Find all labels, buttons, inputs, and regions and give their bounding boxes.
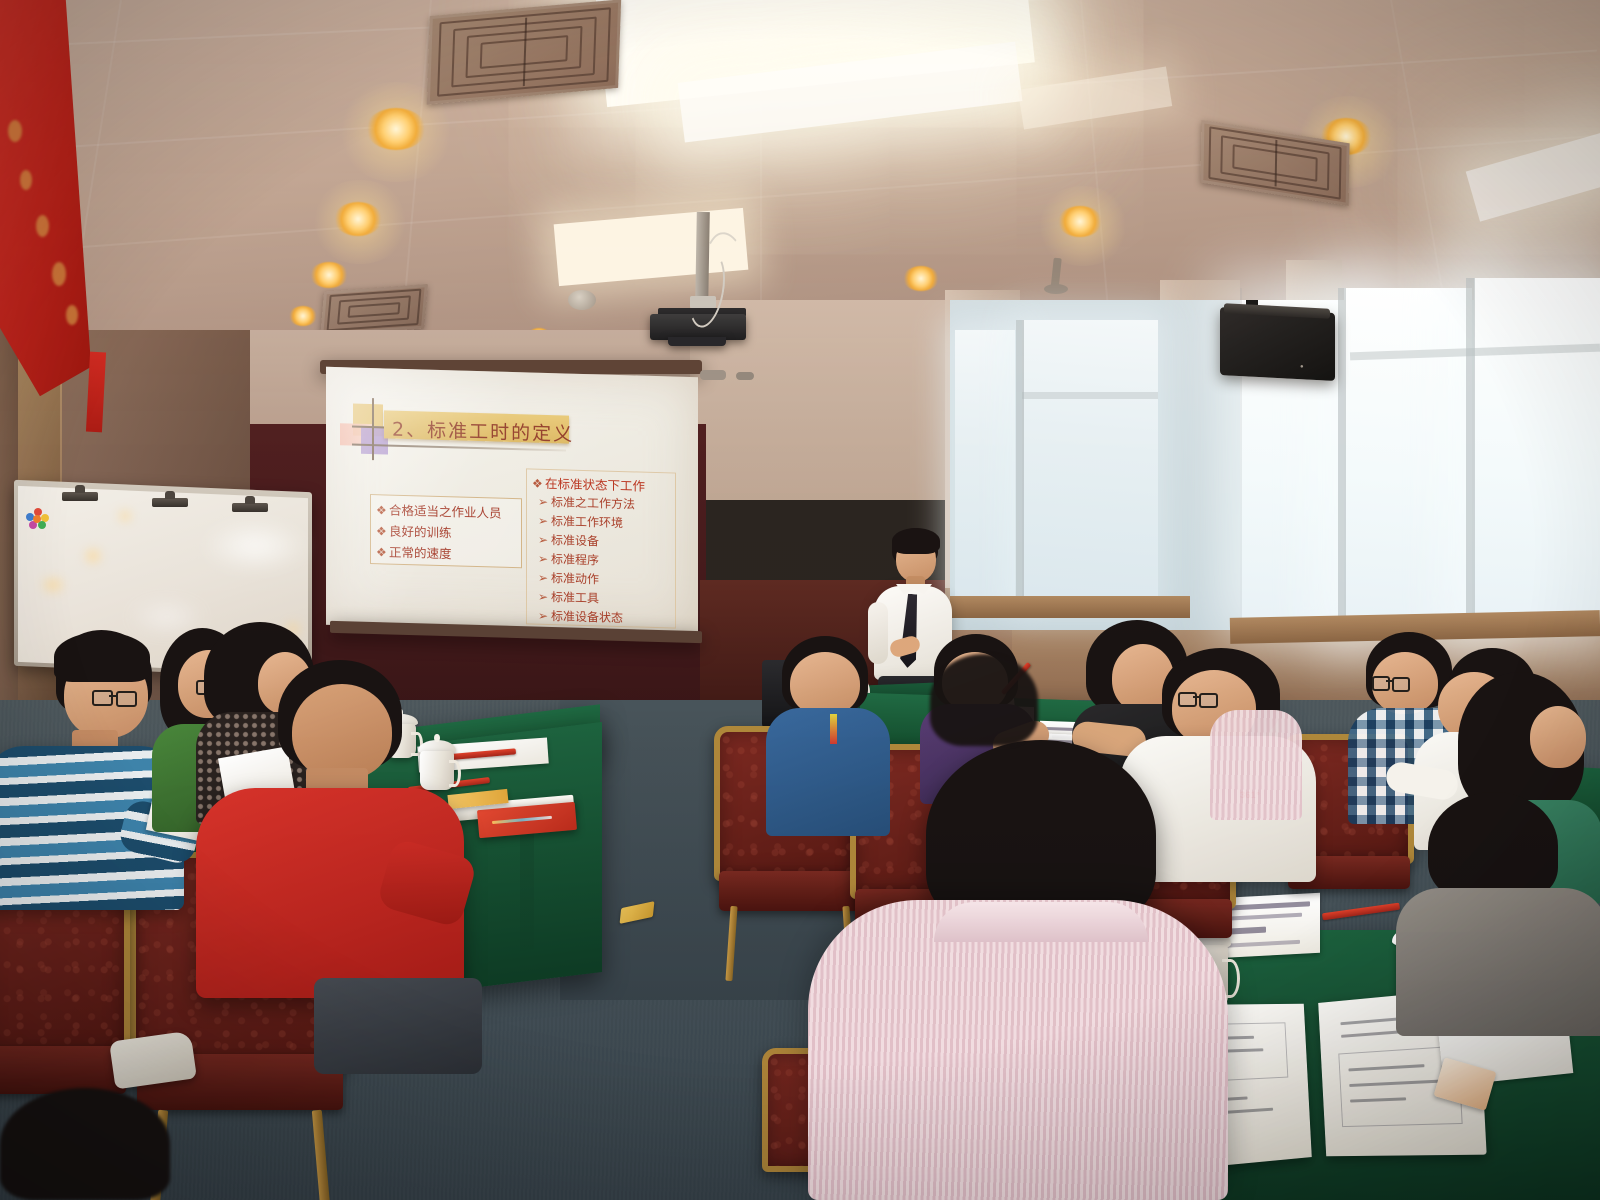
whiteboard-clip[interactable] <box>62 492 98 501</box>
head <box>292 684 392 780</box>
flower-magnet-icon[interactable] <box>26 508 50 530</box>
presenter-hair-top <box>892 528 940 554</box>
slide-deco-cross <box>372 398 374 460</box>
slide-right-item: ➢标准程序 <box>538 550 599 569</box>
pink-striped-shirt <box>808 900 1228 1200</box>
attendee-foreground-head[interactable] <box>0 1088 180 1200</box>
attendee-foreground-head[interactable] <box>920 654 1050 774</box>
slide-left-item: ❖良好的训练 <box>376 520 452 541</box>
slide-right-item: ➢标准设备状态 <box>538 607 623 626</box>
air-vent <box>427 0 621 105</box>
chair-seat <box>0 1046 126 1094</box>
speaker-brand-label: ● <box>1300 364 1305 370</box>
ceiling-fixture <box>700 370 726 380</box>
smoke-detector-icon <box>568 290 596 310</box>
projector-lens-housing <box>668 337 726 346</box>
downlight <box>1058 206 1102 237</box>
downlight <box>366 108 426 150</box>
head <box>1530 706 1586 768</box>
slide-right-item: ➢标准动作 <box>538 569 599 588</box>
head <box>790 652 860 716</box>
banner-motif <box>20 170 32 190</box>
chair-leg <box>725 906 737 981</box>
shirt-collar <box>934 902 1148 942</box>
banner-motif <box>36 215 49 237</box>
arrow-bullet-icon: ➢ <box>538 609 551 623</box>
attendee-pink-stripe[interactable] <box>808 740 1238 1200</box>
slide-left-item: ❖合格适当之作业人员 <box>376 499 502 522</box>
bullet-icon: ❖ <box>376 524 389 538</box>
banner-motif <box>8 120 22 142</box>
downlight <box>903 266 939 291</box>
arrow-bullet-icon: ➢ <box>538 552 551 566</box>
hair <box>1428 792 1558 902</box>
bullet-icon: ❖ <box>376 545 389 559</box>
arrow-bullet-icon: ➢ <box>538 590 551 604</box>
downlight <box>310 262 348 288</box>
slide-right-item: ➢标准工具 <box>538 588 599 607</box>
booklet-stripe <box>492 816 553 824</box>
hair-top <box>54 632 150 682</box>
whiteboard-glare <box>200 520 310 572</box>
arrow-bullet-icon: ➢ <box>538 533 551 547</box>
hair <box>0 1088 170 1200</box>
slide-right-heading: ❖在标准状态下工作 <box>532 473 645 495</box>
slide-left-item: ❖正常的速度 <box>376 541 452 562</box>
grey-top <box>1396 888 1600 1036</box>
window-pane <box>955 330 1015 600</box>
bullet-icon: ❖ <box>376 503 389 517</box>
trousers <box>314 978 482 1074</box>
whiteboard-light-reflection <box>36 578 70 592</box>
whiteboard-clip[interactable] <box>232 503 268 512</box>
window-sill <box>950 596 1190 618</box>
slide-right-item: ➢标准工作环境 <box>538 512 623 531</box>
slide-title: 2、标准工时的定义 <box>392 415 574 447</box>
glasses-icon <box>92 690 154 706</box>
arrow-bullet-icon: ➢ <box>538 514 551 528</box>
seminar-room-photo: 2、标准工时的定义 ❖合格适当之作业人员 ❖良好的训练 ❖正常的速度 ❖在标准状… <box>0 0 1600 1200</box>
hair <box>930 654 1038 746</box>
ceiling-fixture <box>736 372 754 380</box>
slide-right-item: ➢标准设备 <box>538 531 599 550</box>
downlight <box>334 202 382 236</box>
chair-leg <box>312 1109 330 1200</box>
banner-motif <box>52 262 66 286</box>
arrow-bullet-icon: ➢ <box>538 571 551 585</box>
attendee-red-polo[interactable] <box>196 660 476 1060</box>
bullet-icon: ❖ <box>532 477 545 491</box>
glasses-icon <box>1372 676 1424 690</box>
slide-right-item: ➢标准之工作方法 <box>538 493 635 513</box>
banner-motif <box>66 305 78 325</box>
slide: 2、标准工时的定义 ❖合格适当之作业人员 ❖良好的训练 ❖正常的速度 ❖在标准状… <box>326 367 698 635</box>
air-vent <box>320 284 428 336</box>
attendee-grey-top[interactable] <box>1406 792 1600 1032</box>
downlight <box>289 306 317 326</box>
ceiling-hanger-base <box>1044 284 1068 294</box>
window-blinds[interactable] <box>1022 320 1162 610</box>
whiteboard-light-reflection <box>116 510 134 522</box>
whiteboard-clip[interactable] <box>152 498 188 507</box>
arrow-bullet-icon: ➢ <box>538 495 551 509</box>
whiteboard-light-reflection <box>82 548 104 564</box>
